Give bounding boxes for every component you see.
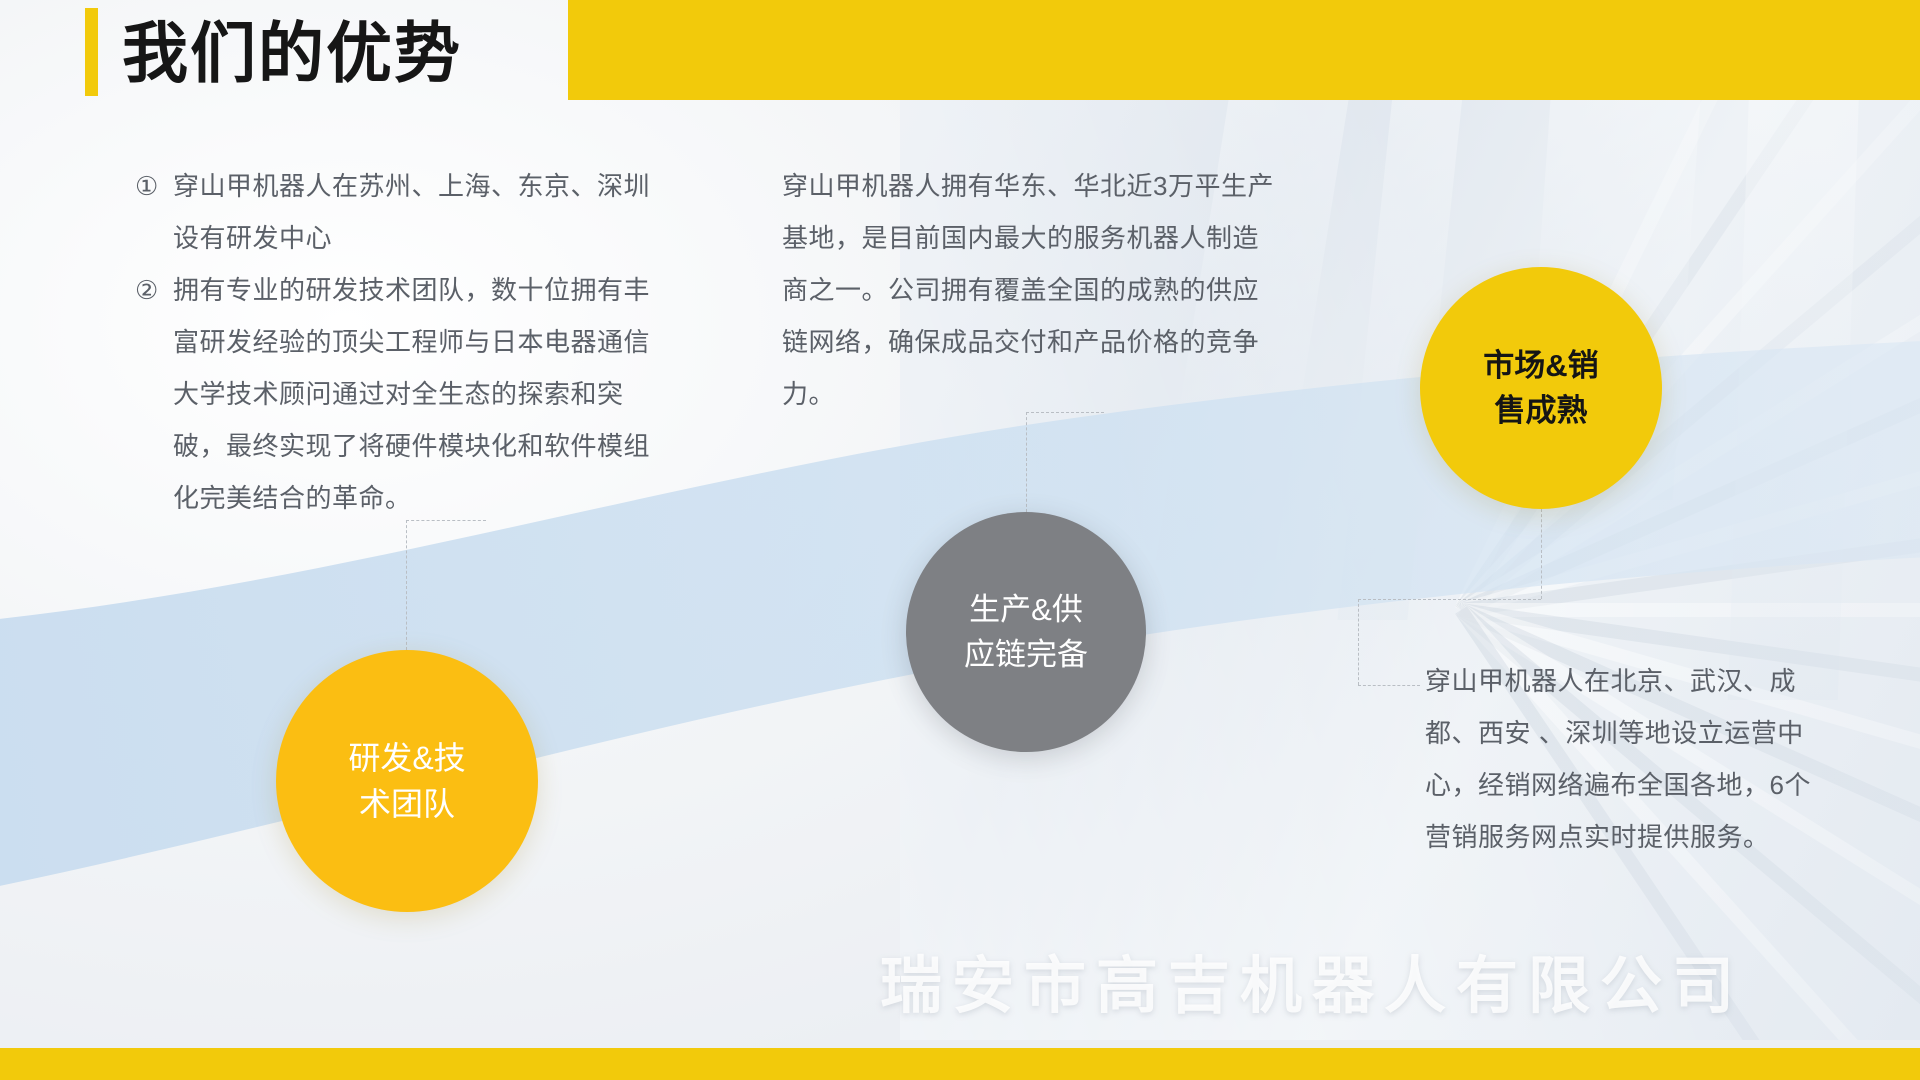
left-text-column: ① 穿山甲机器人在苏州、上海、东京、深圳设有研发中心 ② 拥有专业的研发技术团队… [135,160,675,524]
list-item-text: 拥有专业的研发技术团队，数十位拥有丰富研发经验的顶尖工程师与日本电器通信大学技术… [173,264,675,524]
circle-market-line1: 市场&销 [1483,343,1598,388]
list-item: ① 穿山甲机器人在苏州、上海、东京、深圳设有研发中心 [135,160,675,264]
connector-market-horizontal [1358,599,1541,600]
connector-market-vertical [1541,509,1542,599]
list-item: ② 拥有专业的研发技术团队，数十位拥有丰富研发经验的顶尖工程师与日本电器通信大学… [135,264,675,524]
connector-market-horizontal-bottom [1358,685,1420,686]
circle-production-line2: 应链完备 [964,632,1088,677]
middle-text-column: 穿山甲机器人拥有华东、华北近3万平生产基地，是目前国内最大的服务机器人制造商之一… [782,160,1277,420]
connector-rd-vertical [406,520,407,650]
slide-root: 我们的优势 ① 穿山甲机器人在苏州、上海、东京、深圳设有研发中心 ② 拥有专业的… [0,0,1920,1080]
page-title: 我们的优势 [122,10,462,96]
title-accent-bar [85,8,98,96]
circle-market-line2: 售成熟 [1483,388,1598,433]
list-marker: ② [135,264,173,524]
right-text-column: 穿山甲机器人在北京、武汉、成都、西安 、深圳等地设立运营中心，经销网络遍布全国各… [1425,655,1825,863]
circle-market-sales[interactable]: 市场&销 售成熟 [1420,267,1662,509]
company-watermark: 瑞安市高吉机器人有限公司 [880,935,1744,1025]
list-item-text: 穿山甲机器人在苏州、上海、东京、深圳设有研发中心 [173,160,675,264]
circle-production-supply[interactable]: 生产&供 应链完备 [906,512,1146,752]
footer-yellow-bar [0,1048,1920,1080]
circle-rd-team[interactable]: 研发&技 术团队 [276,650,538,912]
header-yellow-bar [568,0,1920,100]
circle-rd-line2: 术团队 [348,781,465,827]
circle-rd-line1: 研发&技 [348,735,465,781]
connector-production-vertical [1026,412,1027,512]
list-marker: ① [135,160,173,264]
connector-market-vertical-down [1358,599,1359,685]
circle-production-line1: 生产&供 [964,587,1088,632]
